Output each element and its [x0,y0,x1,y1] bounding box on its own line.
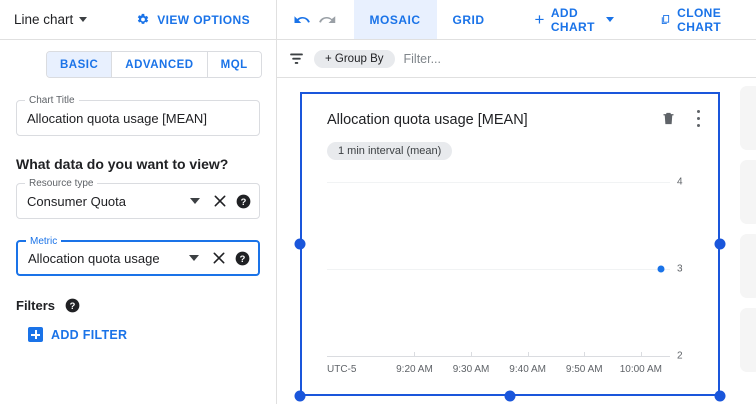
add-chart-button[interactable]: + ADD CHART [523,0,627,39]
x-tick-mark [584,352,585,356]
add-chart-label: ADD CHART [551,6,598,34]
undo-button[interactable] [289,0,314,39]
trash-icon[interactable] [661,110,676,127]
gridline-3: 3 [327,269,670,270]
layout-mode-mosaic[interactable]: MOSAIC [354,0,437,39]
adjacent-card-peek[interactable] [740,234,756,298]
tab-mql[interactable]: MQL [208,52,261,77]
x-tick-label: 9:50 AM [566,364,603,375]
chart-card[interactable]: Allocation quota usage [MEAN] 1 min inte… [300,92,720,396]
chart-card-title: Allocation quota usage [MEAN] [327,110,700,130]
x-tick-mark [414,352,415,356]
metric-value: Allocation quota usage [28,251,183,266]
help-icon[interactable]: ? [65,298,80,313]
svg-text:?: ? [70,301,76,311]
resize-handle-bottom-center[interactable] [505,391,516,402]
add-filter-button[interactable]: ADD FILTER [28,327,260,342]
chart-title-field[interactable]: Chart Title Allocation quota usage [MEAN… [16,100,260,136]
plot-area: 4 3 2 [327,182,670,356]
chart-card-actions [661,110,700,127]
clone-chart-label: CLONE CHART [677,6,744,34]
chart-type-label: Line chart [14,12,73,27]
redo-button[interactable] [314,0,339,39]
plus-icon: + [535,11,545,28]
metric-dropdown-icon[interactable] [189,255,199,261]
clone-chart-button[interactable]: CLONE CHART [648,0,756,39]
help-icon[interactable]: ? [236,194,251,209]
undo-icon [293,11,311,29]
filters-heading: Filters ? [16,298,260,313]
x-axis-line: 2 UTC-5 9:20 AM 9:30 AM 9:40 AM 9:50 AM … [327,356,670,357]
clear-resource-type-icon[interactable] [212,193,228,209]
interval-chip: 1 min interval (mean) [327,142,452,160]
view-options-button[interactable]: VIEW OPTIONS [135,12,250,27]
layout-mode-grid[interactable]: GRID [437,0,501,39]
add-filter-label: ADD FILTER [51,328,127,342]
metric-field[interactable]: Metric Allocation quota usage ? [16,240,260,276]
dashboard-toolbar: MOSAIC GRID + ADD CHART CLONE CHART [277,0,756,40]
plus-icon [28,327,43,342]
chart-title-value: Allocation quota usage [MEAN] [27,111,251,126]
group-by-chip[interactable]: + Group By [314,50,395,68]
gear-icon [135,12,150,27]
data-section-heading: What data do you want to view? [16,156,260,172]
x-tick-mark [471,352,472,356]
svg-text:?: ? [240,253,246,263]
filter-input[interactable]: Filter... [404,52,442,66]
config-tabs-wrap: BASIC ADVANCED MQL [0,40,276,78]
resize-handle-right[interactable] [715,239,726,250]
adjacent-card-peek[interactable] [740,160,756,224]
adjacent-card-peek[interactable] [740,308,756,372]
x-tick-label: 9:30 AM [453,364,490,375]
chart-type-selector[interactable]: Line chart [14,12,87,27]
dashboard-area: MOSAIC GRID + ADD CHART CLONE CHART [277,0,756,404]
filter-list-icon[interactable] [288,50,305,67]
data-point[interactable] [658,266,665,273]
y-tick-label-2: 2 [677,351,683,362]
more-vert-icon[interactable] [696,110,700,127]
chevron-down-icon [79,17,87,22]
help-icon[interactable]: ? [235,251,250,266]
adjacent-card-peek[interactable] [740,86,756,150]
resource-type-value: Consumer Quota [27,194,184,209]
resource-type-dropdown-icon[interactable] [190,198,200,204]
x-tick-label: 10:00 AM [620,364,662,375]
view-options-label: VIEW OPTIONS [157,13,250,27]
svg-text:?: ? [241,196,247,206]
clear-metric-icon[interactable] [211,250,227,266]
resize-handle-bottom-right[interactable] [715,391,726,402]
metrics-explorer-app: Line chart VIEW OPTIONS BASIC ADVANCED M… [0,0,756,404]
resize-handle-left[interactable] [295,239,306,250]
chart-canvas: Allocation quota usage [MEAN] 1 min inte… [277,78,756,404]
group-by-bar: + Group By Filter... [277,40,756,78]
x-tick-mark [641,352,642,356]
metric-label: Metric [26,236,61,247]
x-tick-mark [528,352,529,356]
y-tick-label-4: 4 [677,177,683,188]
chevron-down-icon [606,17,614,22]
redo-icon [318,11,336,29]
copy-icon [660,12,671,27]
resize-handle-bottom-left[interactable] [295,391,306,402]
tab-advanced[interactable]: ADVANCED [112,52,207,77]
tab-basic[interactable]: BASIC [47,52,112,77]
chart-card-body: Allocation quota usage [MEAN] 1 min inte… [302,94,718,394]
timezone-label: UTC-5 [327,364,356,375]
config-tabs: BASIC ADVANCED MQL [46,51,262,78]
y-tick-label-3: 3 [677,264,683,275]
panel-header: Line chart VIEW OPTIONS [0,0,276,40]
filters-label: Filters [16,298,55,313]
chart-config-panel: Line chart VIEW OPTIONS BASIC ADVANCED M… [0,0,277,404]
gridline-4: 4 [327,182,670,183]
x-tick-label: 9:20 AM [396,364,433,375]
resource-type-label: Resource type [25,178,97,189]
chart-title-label: Chart Title [25,95,79,106]
resource-type-field[interactable]: Resource type Consumer Quota ? [16,183,260,219]
x-tick-label: 9:40 AM [509,364,546,375]
